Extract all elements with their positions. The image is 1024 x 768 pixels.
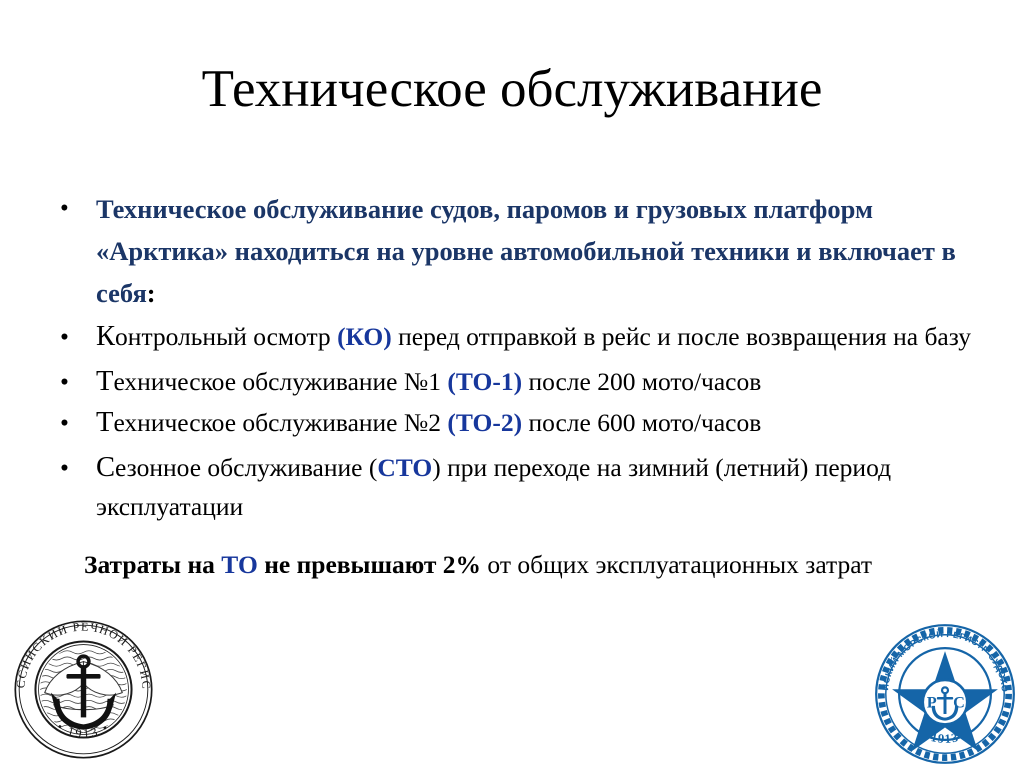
monogram-left: Р bbox=[927, 692, 937, 711]
summary-line: Затраты на ТО не превышают 2% от общих э… bbox=[46, 548, 1024, 582]
list-item-text: Сезонное обслуживание (СТО) при переходе… bbox=[96, 448, 996, 526]
russian-river-register-logo: РОССИЙСКИЙ РЕЧНОЙ РЕГИСТР • 1913 • bbox=[6, 612, 161, 767]
bullet-dot-icon: • bbox=[60, 448, 72, 487]
bullet-dot-icon: • bbox=[60, 403, 72, 442]
list-item-cap: Т bbox=[96, 407, 113, 438]
summary-prefix: Затраты на bbox=[84, 550, 221, 579]
list-item-segment: после 200 мото/часов bbox=[522, 367, 761, 396]
russian-maritime-register-logo: Р С РОССИЙСКИЙ МОРСКОЙ РЕГИСТР СУДОХОДСТ… bbox=[871, 620, 1019, 768]
monogram-right: С bbox=[953, 692, 965, 711]
list-item: • Техническое обслуживание №1 (ТО-1) пос… bbox=[46, 362, 996, 401]
list-item: • Сезонное обслуживание (СТО) при перехо… bbox=[46, 448, 996, 526]
abbreviation-sto: СТО bbox=[377, 453, 432, 482]
list-item: • Техническое обслуживание №2 (ТО-2) пос… bbox=[46, 403, 996, 442]
summary-suffix: от общих эксплуатационных затрат bbox=[481, 550, 872, 579]
slide-canvas: Техническое обслуживание • Техническое о… bbox=[0, 0, 1024, 767]
list-item: • Техническое обслуживание судов, паромо… bbox=[46, 188, 996, 314]
list-item-segment: перед отправкой в рейс и после возвращен… bbox=[392, 322, 971, 351]
abbreviation-ko: (КО) bbox=[337, 322, 392, 351]
list-item-segment: езонное обслуживание ( bbox=[115, 453, 377, 482]
list-item-segment: Техническое обслуживание судов, паромов … bbox=[96, 194, 956, 308]
list-item-colon: : bbox=[147, 278, 156, 308]
list-item-text: Техническое обслуживание судов, паромов … bbox=[96, 188, 996, 314]
list-item-segment: ехническое обслуживание №1 bbox=[113, 367, 447, 396]
list-item-cap: С bbox=[96, 452, 115, 483]
bullet-dot-icon: • bbox=[60, 188, 72, 230]
list-item-cap: Т bbox=[96, 366, 113, 397]
list-item-cap: К bbox=[96, 321, 115, 352]
abbreviation-to-1: (ТО-1) bbox=[447, 367, 522, 396]
list-item-segment: ехническое обслуживание №2 bbox=[113, 408, 447, 437]
bullet-dot-icon: • bbox=[60, 362, 72, 401]
list-item: • Контрольный осмотр (КО) перед отправко… bbox=[46, 317, 996, 356]
svg-text:1913: 1913 bbox=[930, 730, 961, 746]
content-body: • Техническое обслуживание судов, паромо… bbox=[46, 188, 996, 528]
list-item-text: Техническое обслуживание №2 (ТО-2) после… bbox=[96, 403, 996, 442]
list-item-text: Контрольный осмотр (КО) перед отправкой … bbox=[96, 317, 996, 356]
summary-middle: не превышают 2% bbox=[258, 550, 481, 579]
list-item-segment: онтрольный осмотр bbox=[115, 322, 337, 351]
bullet-dot-icon: • bbox=[60, 317, 72, 356]
abbreviation-to: ТО bbox=[221, 550, 258, 579]
bullet-list: • Техническое обслуживание судов, паромо… bbox=[46, 188, 996, 526]
abbreviation-to-2: (ТО-2) bbox=[447, 408, 522, 437]
list-item-text: Техническое обслуживание №1 (ТО-1) после… bbox=[96, 362, 996, 401]
list-item-segment: после 600 мото/часов bbox=[522, 408, 761, 437]
page-title: Техническое обслуживание bbox=[0, 58, 1024, 120]
seal-year: 1913 bbox=[930, 730, 961, 746]
